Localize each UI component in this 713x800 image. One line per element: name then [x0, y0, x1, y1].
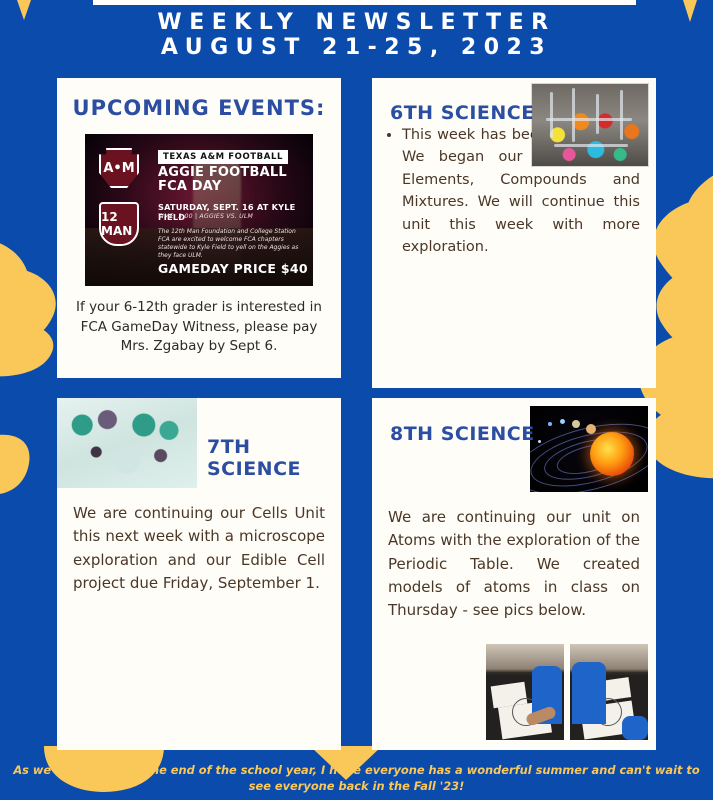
flyer-headline: AGGIE FOOTBALL FCA DAY [158, 166, 308, 194]
flyer-price: GAMEDAY PRICE $40 [158, 261, 308, 276]
twelfth-man-logo-icon: 12 MAN [99, 202, 139, 246]
classroom-photo-1 [486, 644, 564, 740]
aggie-football-fca-flyer-image: A•M 12 MAN TEXAS A&M FOOTBALL AGGIE FOOT… [85, 134, 313, 286]
7th-science-body: We are continuing our Cells Unit this ne… [73, 502, 325, 595]
card-8th-science: 8TH SCIENCE We are continuing our unit o… [372, 398, 656, 750]
8th-science-title: 8TH SCIENCE [390, 422, 535, 447]
8th-science-body: We are continuing our unit on Atoms with… [388, 506, 640, 622]
classroom-photo-2 [570, 644, 648, 740]
fca-gameday-note: If your 6-12th grader is interested in F… [75, 298, 323, 357]
upcoming-events-title: UPCOMING EVENTS: [57, 96, 341, 120]
card-6th-science: 6TH SCIENCE This week has been super bus… [372, 78, 656, 388]
newsletter-footer: As we wind down to the end of the school… [0, 762, 713, 794]
newsletter-header: WEEKLY NEWSLETTER AUGUST 21-25, 2023 [0, 10, 713, 60]
flyer-paragraph: The 12th Man Foundation and College Stat… [158, 228, 302, 260]
7th-science-title: 7TH SCIENCE [207, 436, 341, 480]
top-white-bar [93, 0, 636, 5]
flyer-tag: TEXAS A&M FOOTBALL [158, 150, 288, 164]
flyer-time: TIME: 3:00 | AGGIES VS. ULM [158, 213, 310, 220]
plant-cell-microscopy-image [57, 398, 197, 488]
sun-graphic [590, 432, 634, 476]
8th-science-photo-group [486, 644, 648, 740]
newsletter-title: WEEKLY NEWSLETTER [0, 10, 713, 35]
card-upcoming-events: UPCOMING EVENTS: A•M 12 MAN TEXAS A&M FO… [57, 78, 341, 378]
newsletter-date-range: AUGUST 21-25, 2023 [0, 35, 713, 60]
card-7th-science: 7TH SCIENCE We are continuing our Cells … [57, 398, 341, 750]
chemistry-glassware-image [532, 84, 648, 166]
solar-system-image [530, 406, 648, 492]
texas-am-logo-icon: A•M [99, 148, 139, 188]
